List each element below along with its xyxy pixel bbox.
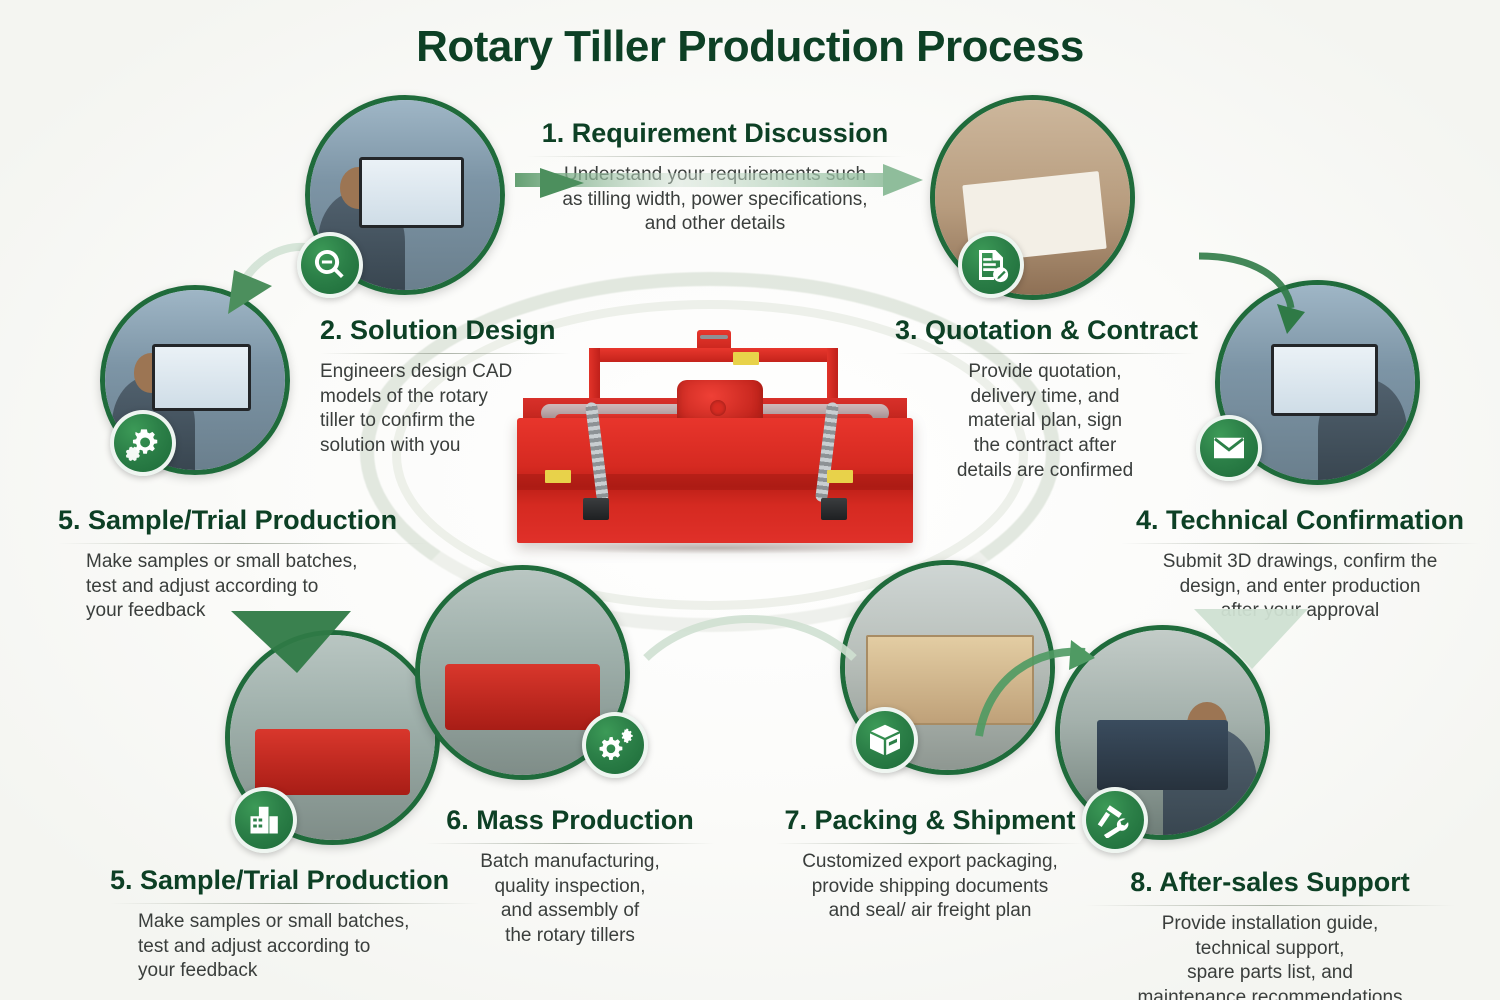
step-7-block: 7. Packing & Shipment Customized export … [775,805,1085,924]
step-2-body: Engineers design CAD models of the rotar… [320,360,570,459]
step-6-block: 6. Mass Production Batch manufacturing, … [425,805,715,949]
step-3-body: Provide quotation, delivery time, and ma… [895,360,1195,483]
step-3-divider [895,353,1195,354]
step-2-divider [320,353,570,354]
double-gear-glyph [597,727,633,763]
step-7-body: Customized export packaging, provide shi… [775,850,1085,924]
step-8-heading: 8. After-sales Support [1085,867,1455,898]
magnifier-minus-icon [297,232,363,298]
step-7-heading: 7. Packing & Shipment [775,805,1085,836]
magnifier-minus-glyph [312,247,348,283]
envelope-icon [1196,415,1262,481]
step-8-divider [1085,905,1455,906]
arrow-head-into-step1 [540,166,586,200]
step-6-divider [425,843,715,844]
hammer-wrench-icon [1082,787,1148,853]
step-2-heading: 2. Solution Design [320,315,570,346]
document-edit-icon [958,232,1024,298]
step-1-divider [525,156,905,157]
step-4-heading: 4. Technical Confirmation [1120,505,1480,536]
gears-icon [110,410,176,476]
envelope-glyph [1211,430,1247,466]
arrow-step4-to-step8 [1190,605,1320,675]
infographic-canvas: Rotary Tiller Production Process [0,0,1500,1000]
step-5-heading: 5. Sample/Trial Production [58,505,428,536]
step-6-body: Batch manufacturing, quality inspection,… [425,850,715,949]
step-3-heading: 3. Quotation & Contract [895,315,1195,346]
arrow-step7-to-step8 [975,640,1095,750]
step-4-divider [1120,543,1480,544]
step-1-heading: 1. Requirement Discussion [525,118,905,149]
arrow-step3-to-step4 [1195,250,1305,340]
step-7-divider [775,843,1085,844]
gears-glyph [125,425,161,461]
step-8-body: Provide installation guide, technical su… [1085,912,1455,1000]
package-box-glyph [867,722,903,758]
hammer-wrench-glyph [1097,802,1133,838]
step-5-divider [58,543,428,544]
arrow-step5-to-sample-photo [225,605,365,680]
document-edit-glyph [973,247,1009,283]
arrow-step6-connector [640,600,860,670]
step-2-block: 2. Solution Design Engineers design CAD … [320,315,570,459]
factory-blueprint-glyph [246,802,282,838]
step-3-block: 3. Quotation & Contract Provide quotatio… [895,315,1195,483]
package-box-icon [852,707,918,773]
step-6-heading: 6. Mass Production [425,805,715,836]
page-title: Rotary Tiller Production Process [0,22,1500,72]
factory-blueprint-icon [231,787,297,853]
double-gear-icon [582,712,648,778]
step-8-block: 8. After-sales Support Provide installat… [1085,867,1455,1000]
